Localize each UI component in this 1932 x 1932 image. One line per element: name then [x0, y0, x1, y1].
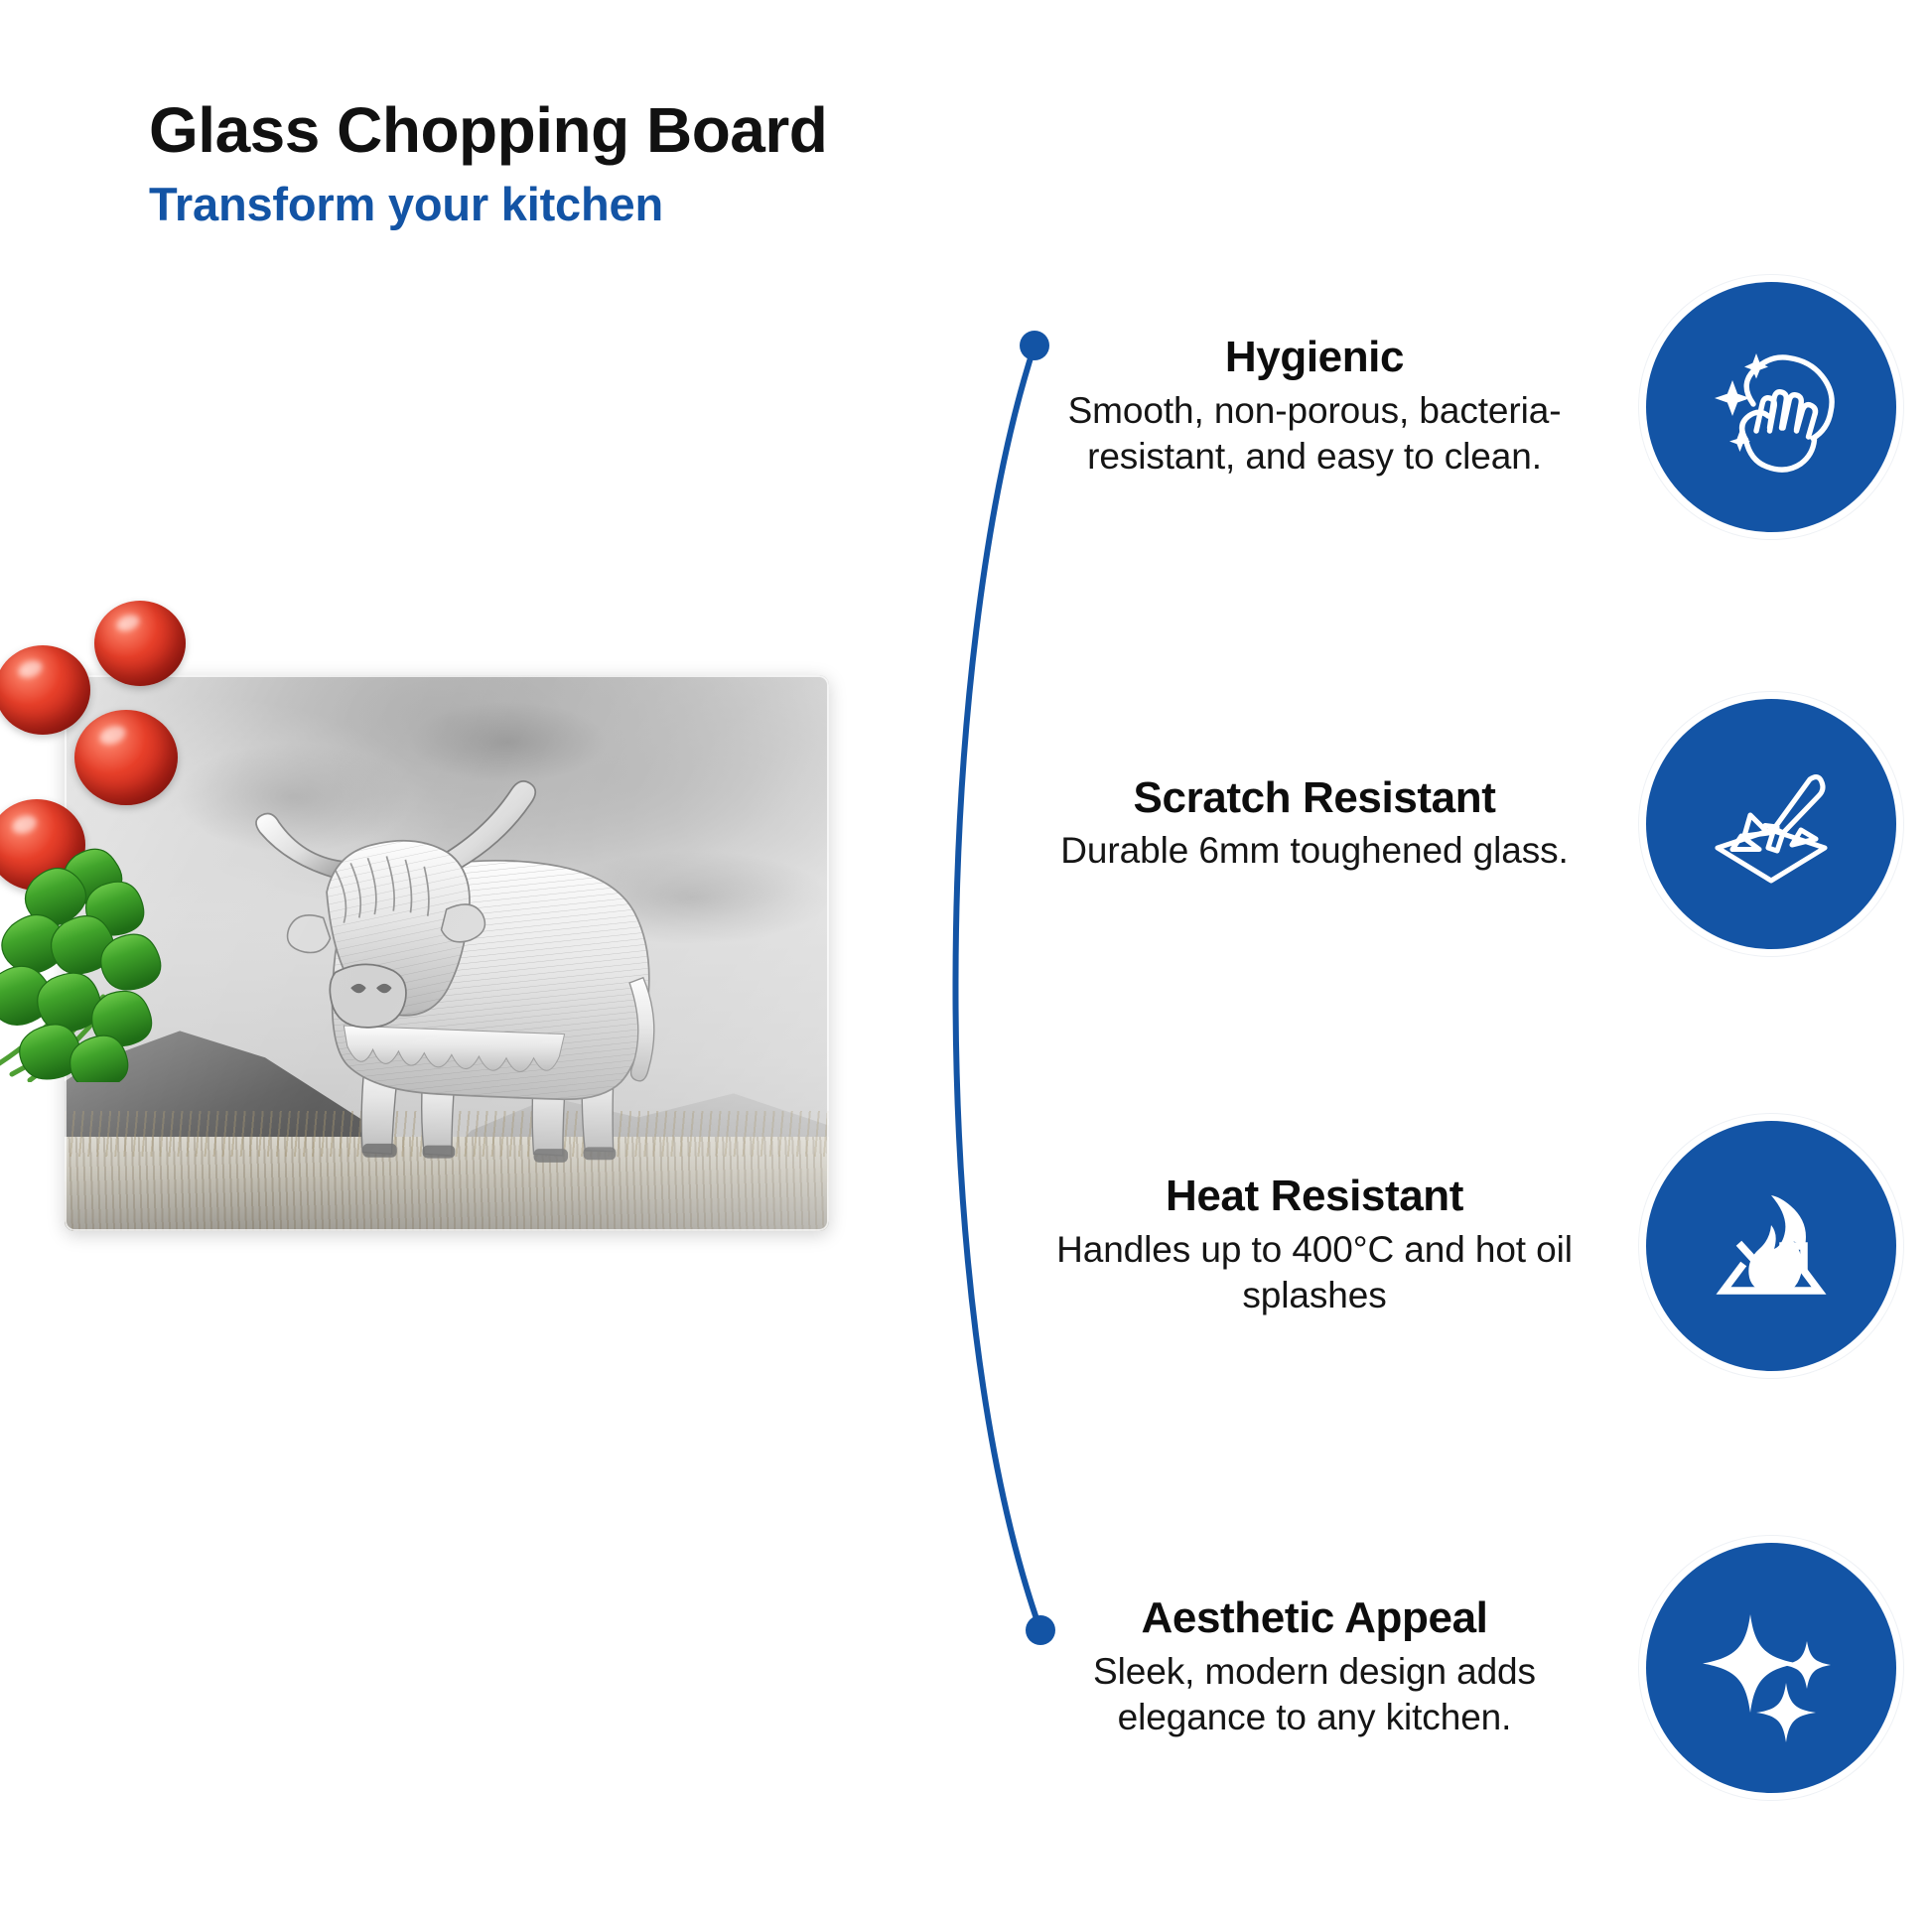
- parsley-bunch: [0, 834, 218, 1082]
- feature-description: Smooth, non-porous, bacteria-resistant, …: [1023, 388, 1606, 481]
- page-title: Glass Chopping Board: [149, 95, 1142, 167]
- feature-text: Hygienic Smooth, non-porous, bacteria-re…: [1023, 334, 1610, 481]
- feature-item-aesthetic-appeal[interactable]: Aesthetic Appeal Sleek, modern design ad…: [1023, 1499, 1896, 1837]
- sparkles-icon: [1697, 1593, 1846, 1742]
- feature-icon-badge[interactable]: [1646, 1543, 1896, 1793]
- feature-title: Hygienic: [1023, 334, 1606, 381]
- feature-title: Heat Resistant: [1023, 1173, 1606, 1220]
- feature-text: Heat Resistant Handles up to 400°C and h…: [1023, 1173, 1610, 1319]
- product-photo: [0, 596, 874, 1311]
- hand-wiping-sparkle-icon: [1697, 333, 1846, 482]
- feature-description: Handles up to 400°C and hot oil splashes: [1023, 1227, 1606, 1319]
- feature-description: Sleek, modern design adds elegance to an…: [1023, 1649, 1606, 1741]
- feature-item-hygienic[interactable]: Hygienic Smooth, non-porous, bacteria-re…: [1023, 238, 1896, 576]
- header: Glass Chopping Board Transform your kitc…: [149, 95, 1142, 232]
- feature-icon-badge[interactable]: [1646, 699, 1896, 949]
- knife-impact-surface-icon: [1697, 750, 1846, 898]
- feature-item-scratch-resistant[interactable]: Scratch Resistant Durable 6mm toughened …: [1023, 655, 1896, 993]
- feature-icon-badge[interactable]: [1646, 282, 1896, 532]
- feature-icon-badge[interactable]: [1646, 1121, 1896, 1371]
- feature-item-heat-resistant[interactable]: Heat Resistant Handles up to 400°C and h…: [1023, 1077, 1896, 1415]
- feature-title: Scratch Resistant: [1023, 774, 1606, 822]
- feature-description: Durable 6mm toughened glass.: [1023, 828, 1606, 875]
- feature-title: Aesthetic Appeal: [1023, 1594, 1606, 1642]
- feature-text: Scratch Resistant Durable 6mm toughened …: [1023, 774, 1610, 875]
- flame-deflect-surface-icon: [1697, 1172, 1846, 1320]
- feature-text: Aesthetic Appeal Sleek, modern design ad…: [1023, 1594, 1610, 1741]
- infographic-page: Glass Chopping Board Transform your kitc…: [0, 0, 1932, 1932]
- cherry-tomato: [74, 710, 178, 805]
- page-subtitle: Transform your kitchen: [149, 177, 1142, 232]
- cherry-tomato: [94, 601, 186, 686]
